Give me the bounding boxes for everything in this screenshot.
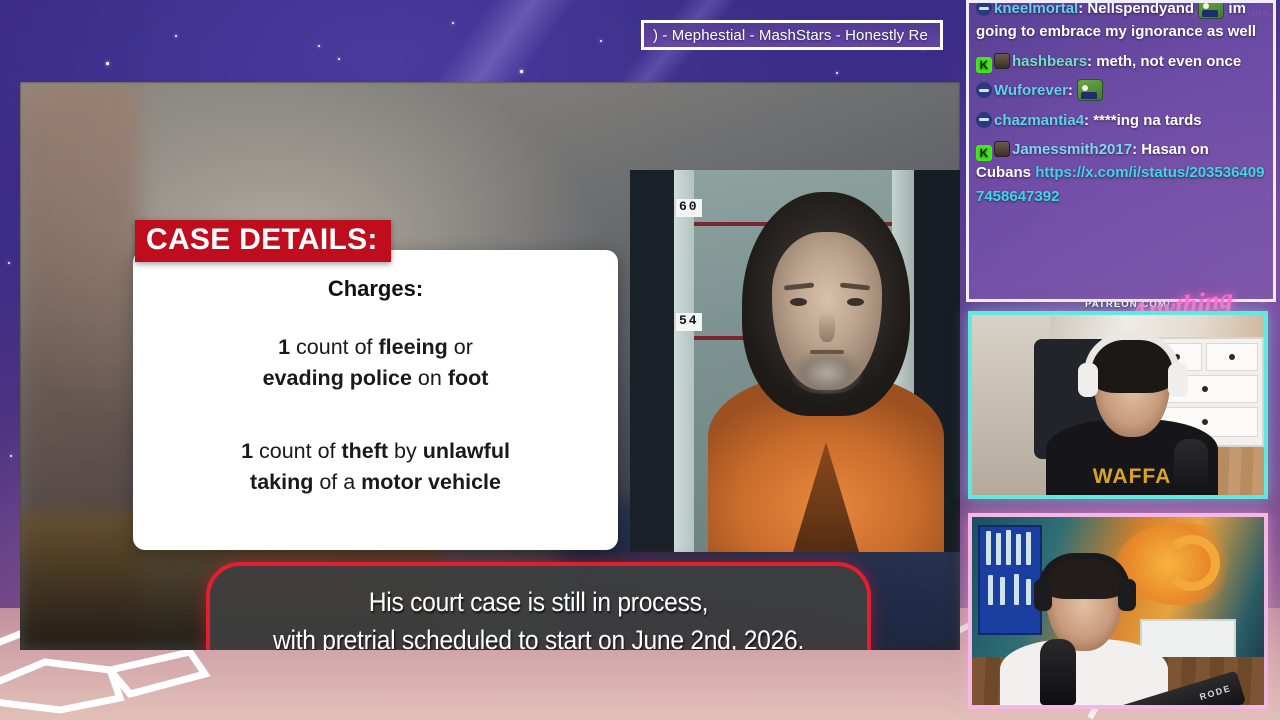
main-video-panel[interactable]: 60 54 Charges: 1 count of fleeing or eva… <box>20 82 960 650</box>
charge-2-keyword-2: unlawful <box>423 439 510 463</box>
case-details-banner: CASE DETAILS: <box>135 220 391 262</box>
chat-text: meth, not even once <box>1096 53 1241 70</box>
mugshot-post-left <box>674 170 694 552</box>
chat-message: chazmantia4: ****ing na tards <box>976 109 1266 132</box>
patreon-subs-ticker: ) - Mephestial - MashStars - Honestly Re <box>641 20 943 50</box>
chat-text: ****ing na tards <box>1093 112 1201 129</box>
background-star <box>836 72 838 74</box>
chat-colon: : <box>1078 0 1087 17</box>
charge-2-count: 1 <box>241 439 253 463</box>
charge-item-1: 1 count of fleeing or evading police on … <box>149 332 602 393</box>
chat-username[interactable]: chazmantia4 <box>994 112 1084 129</box>
caption-line-2: with pretrial scheduled to start on June… <box>273 622 804 650</box>
charge-2-keyword-1: theft <box>342 439 389 463</box>
mugshot-eyebrow-left <box>784 282 814 290</box>
mugshot-eye-right <box>847 298 864 306</box>
webcam1-headphone-cup-right <box>1168 363 1188 397</box>
mugshot-left-frame <box>630 170 674 552</box>
rode-brand-label: RODE <box>1198 683 1232 702</box>
shelf-bottle <box>1026 532 1031 565</box>
charge-1-keyword-3: foot <box>448 366 489 390</box>
case-details-card: Charges: 1 count of fleeing or evading p… <box>133 250 618 550</box>
chat-text: Nellspendyand <box>1087 0 1194 17</box>
chat-message: KJamessmith2017: Hasan on Cubans https:/… <box>976 138 1266 208</box>
background-star <box>452 22 454 24</box>
charges-heading: Charges: <box>133 276 618 302</box>
sub-badge-icon <box>994 53 1010 69</box>
background-star <box>175 35 177 37</box>
mugshot-eye-left <box>790 298 807 306</box>
chat-username[interactable]: hashbears <box>1012 53 1087 70</box>
webcam2-microphone <box>1040 639 1076 705</box>
background-star <box>106 62 109 65</box>
patreon-url-overlay: PATREON.COM/ <box>1085 299 1171 310</box>
chat-username[interactable]: Wuforever <box>994 82 1068 99</box>
background-star <box>10 455 12 457</box>
mugshot-beard <box>791 348 863 394</box>
webcam1-microphone <box>1174 439 1208 499</box>
mugshot-image: 60 54 <box>630 170 960 552</box>
charge-2-text-b: by <box>388 439 423 463</box>
charge-1-count: 1 <box>278 335 290 359</box>
chat-message: Wuforever: <box>976 79 1266 102</box>
chat-colon: : <box>1087 53 1096 70</box>
dresser-drawer <box>1206 343 1258 371</box>
shelf-bottle <box>1006 530 1011 565</box>
shelf-bottle <box>1000 577 1005 605</box>
circle-badge-icon <box>976 112 992 128</box>
webcam2-wall-art-swirl <box>1164 535 1220 591</box>
charge-1-text-b: or <box>448 335 473 359</box>
shelf-bottle <box>988 575 993 605</box>
ticker-text: ) - Mephestial - MashStars - Honestly Re <box>644 27 928 44</box>
background-star <box>520 70 523 73</box>
webcam2-headphone-cup-left <box>1034 579 1052 611</box>
webcam1-shirt-text: WAFFA <box>1093 465 1172 489</box>
background-star <box>338 58 340 60</box>
mugshot-face <box>772 232 882 390</box>
circle-badge-icon <box>976 0 992 16</box>
chat-pepe-emote-icon <box>1077 79 1103 101</box>
mugshot-nose <box>819 312 835 342</box>
charge-1-keyword-2: evading police <box>263 366 412 390</box>
webcam-panel-secondary[interactable]: RODE <box>968 513 1268 709</box>
charge-1-keyword-1: fleeing <box>379 335 448 359</box>
shelf-bottle <box>1014 574 1019 605</box>
charge-2-keyword-3: taking <box>250 470 313 494</box>
video-caption-banner: His court case is still in process, with… <box>206 562 871 650</box>
chat-emote-icon <box>1198 0 1224 19</box>
chat-username[interactable]: Jamessmith2017 <box>1012 141 1132 158</box>
charge-1-text-a: count of <box>290 335 378 359</box>
chat-message: kneelmortal: Nellspendyand im going to e… <box>976 0 1266 44</box>
mugshot-collar <box>793 442 859 552</box>
charge-2-text-a: count of <box>253 439 341 463</box>
chat-colon: : <box>1132 141 1141 158</box>
webcam1-headphone-cup-left <box>1078 363 1098 397</box>
chat-message: Khashbears: meth, not even once <box>976 50 1266 73</box>
k-badge-icon: K <box>976 145 992 161</box>
circle-badge-icon <box>976 82 992 98</box>
twitch-chat-panel[interactable]: kneelmortal: Nellspendyand im going to e… <box>966 0 1276 302</box>
shelf-bottle <box>1026 579 1031 605</box>
chat-username[interactable]: kneelmortal <box>994 0 1078 17</box>
charge-2-keyword-4: motor vehicle <box>361 470 501 494</box>
k-badge-icon: K <box>976 57 992 73</box>
chat-colon: : <box>1068 82 1077 99</box>
shelf-bottle <box>1016 534 1021 565</box>
background-star <box>318 45 320 47</box>
height-marker-60: 60 <box>676 199 702 217</box>
stream-layout: TOP PATREON SUBS ) - Mephestial - MashSt… <box>0 0 1280 720</box>
mugshot-eyebrow-right <box>840 282 870 290</box>
charge-1-text-c: on <box>412 366 448 390</box>
webcam-panel-primary[interactable]: WAFFA <box>968 311 1268 499</box>
charge-item-2: 1 count of theft by unlawful taking of a… <box>149 436 602 497</box>
webcam2-bar-shelf <box>978 525 1042 635</box>
background-star <box>600 40 602 42</box>
shelf-bottle <box>986 531 991 565</box>
shelf-bottle <box>996 533 1001 565</box>
charge-2-text-c: of a <box>313 470 361 494</box>
webcam2-headphone-cup-right <box>1118 579 1136 611</box>
mugshot-mouth <box>810 350 844 354</box>
height-marker-54: 54 <box>676 313 702 331</box>
background-star <box>8 262 10 264</box>
chat-colon: : <box>1084 112 1093 129</box>
caption-line-1: His court case is still in process, <box>369 584 708 622</box>
sub-badge-icon <box>994 141 1010 157</box>
